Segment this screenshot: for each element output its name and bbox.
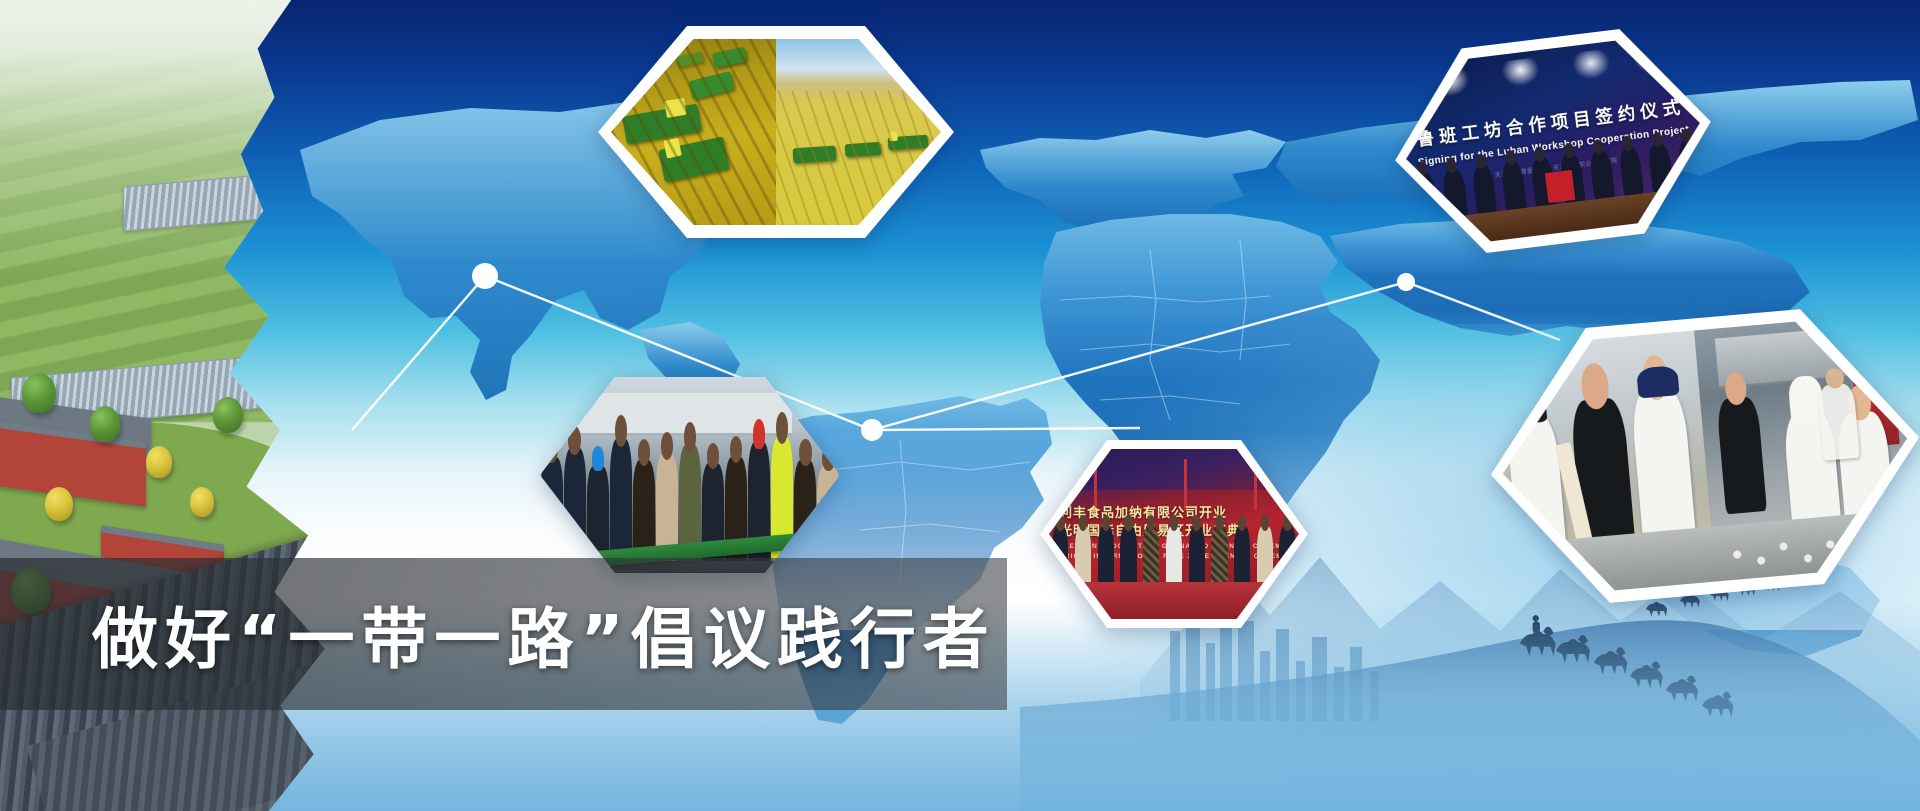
tree [45,487,73,521]
agricultural-harvest-photo [598,26,954,238]
harvest-left-field [611,39,776,225]
combine-harvester [689,71,735,99]
combine-harvester [792,145,836,163]
combine-harvester [658,137,730,183]
title-banner: 做好“一带一路”倡议践行者 [0,558,1007,710]
tree [22,373,56,413]
signing-folder [1545,170,1575,202]
tree [213,397,243,433]
luban-workshop-signing-photo: 鲁班工坊合作项目签约仪式 Signing for the Luban Works… [1383,19,1724,262]
harvest-right-field [776,39,941,225]
culinary-right-scene [1694,313,1918,582]
tree [90,406,120,442]
tree [190,487,214,517]
chef-hat-navy [1636,365,1679,399]
hex-photo [540,377,840,573]
staff-member [1716,396,1767,515]
culinary-training-photo [1479,300,1920,612]
tree [146,446,172,478]
banner-hero: 鲁班工坊合作项目签约仪式 Signing for the Luban Works… [0,0,1920,811]
combine-harvester [845,142,882,158]
culinary-left-scene [1492,330,1716,599]
hex-photo: 鲁班工坊合作项目签约仪式 Signing for the Luban Works… [1395,32,1711,251]
leefound-ghana-opening-photo: 利丰食品加纳有限公司开业 光明国际自由贸易区开业盛典 LEEFOUND FOOD… [1040,440,1308,628]
construction-site-officials-photo [540,377,840,573]
combine-harvester [712,47,747,68]
combine-harvester [888,134,928,150]
hex-photo [1492,313,1918,599]
site-crowd [540,416,840,561]
page-title: 做好“一带一路”倡议践行者 [92,586,996,682]
combine-harvester [622,103,702,144]
